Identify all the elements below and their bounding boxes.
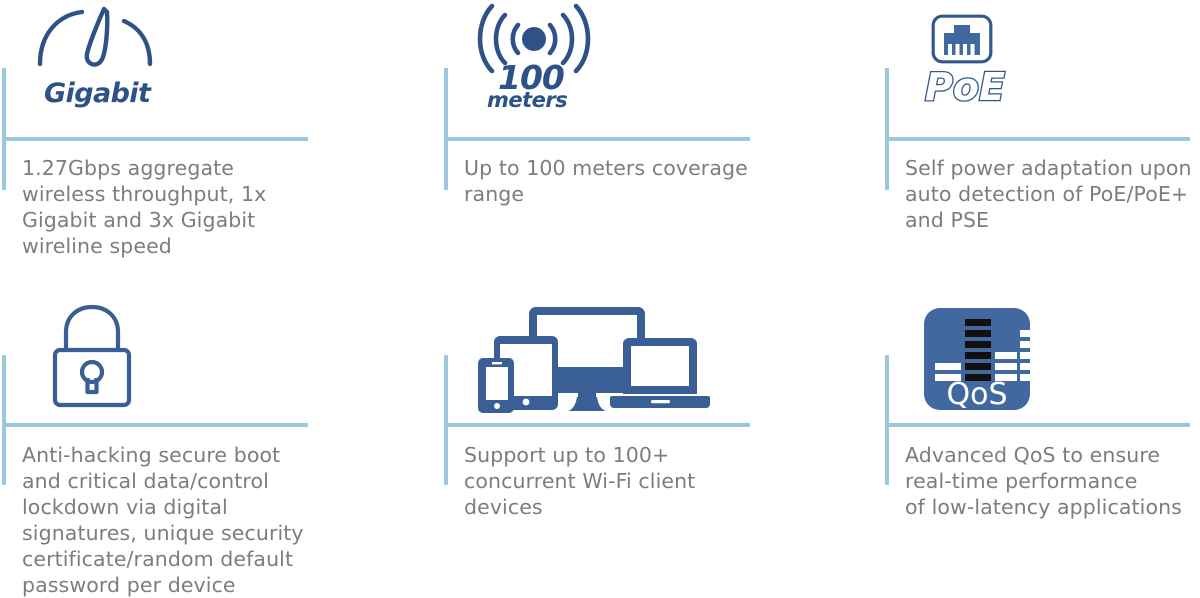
accent-horizontal-divider [885,423,1190,427]
gigabit-wings-icon [34,6,156,68]
coverage-unit-wordmark: meters [487,88,567,112]
padlock-icon [48,304,136,408]
multi-device-icon [478,303,710,418]
feature-description: Self power adaptation upon auto detectio… [905,155,1200,233]
feature-card-qos: QoS Advanced QoS to ensure real-time per… [883,290,1200,594]
feature-description: Up to 100 meters coverage range [464,155,794,207]
accent-vertical-bar [444,68,448,190]
accent-horizontal-divider [885,137,1190,141]
feature-card-clients: Support up to 100+ concurrent Wi-Fi clie… [442,290,842,594]
accent-horizontal-divider [2,423,308,427]
qos-wordmark: QoS [946,377,1007,412]
feature-card-gigabit: Gigabit 1.27Gbps aggregate wireless thro… [0,0,400,290]
gigabit-wordmark: Gigabit [44,78,150,109]
feature-description: Support up to 100+ concurrent Wi-Fi clie… [464,442,784,520]
accent-horizontal-divider [444,137,750,141]
accent-vertical-bar [2,68,6,190]
qos-equalizer-icon: QoS [924,308,1030,410]
rj45-ethernet-port-icon [931,14,993,64]
accent-vertical-bar [2,355,6,485]
feature-description: Advanced QoS to ensure real-time perform… [905,442,1200,520]
feature-grid: Gigabit 1.27Gbps aggregate wireless thro… [0,0,1200,594]
accent-vertical-bar [444,355,448,485]
feature-card-poe: PoE Self power adaptation upon auto dete… [883,0,1200,290]
feature-description: 1.27Gbps aggregate wireless throughput, … [22,155,312,259]
feature-card-coverage: 100 meters Up to 100 meters coverage ran… [442,0,842,290]
feature-card-security: Anti-hacking secure boot and critical da… [0,290,400,594]
accent-horizontal-divider [444,423,750,427]
accent-vertical-bar [885,68,889,190]
poe-wordmark: PoE [925,65,1005,109]
feature-description: Anti-hacking secure boot and critical da… [22,442,322,598]
accent-horizontal-divider [2,137,308,141]
accent-vertical-bar [885,355,889,485]
